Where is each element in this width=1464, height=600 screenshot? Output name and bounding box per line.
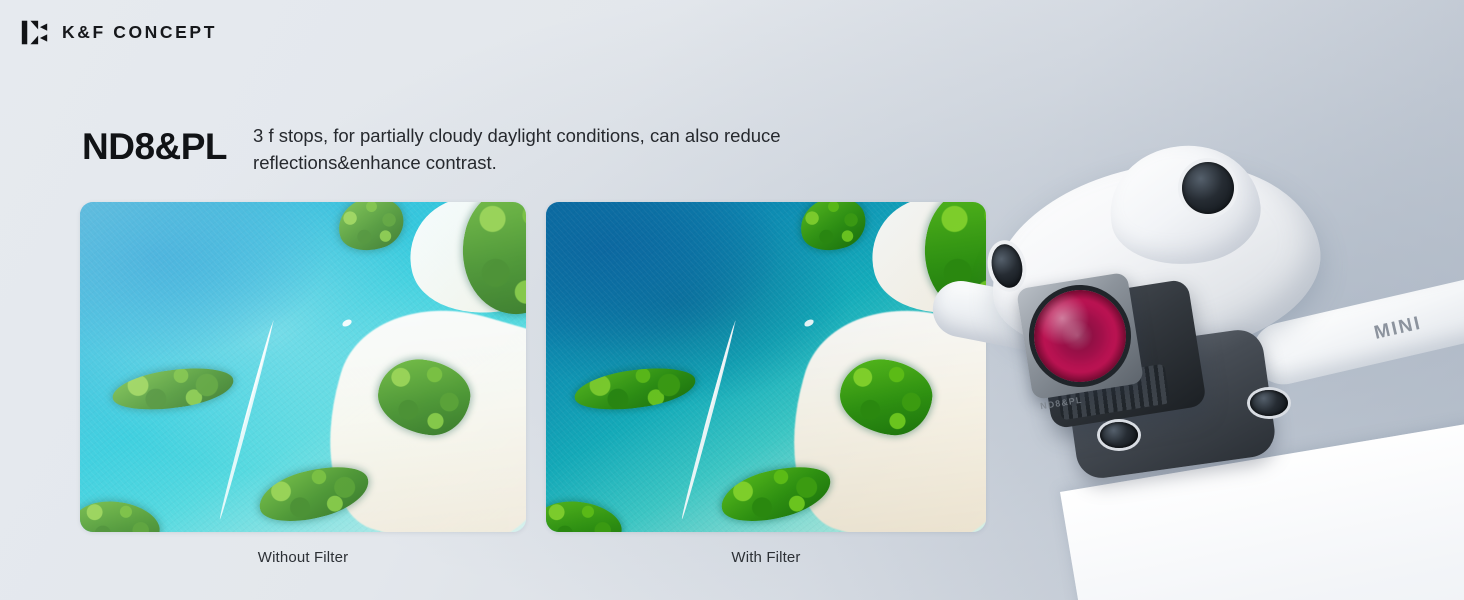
headline-description: 3 f stops, for partially cloudy daylight… [253,122,933,176]
photo-without-filter [80,202,526,532]
contrast-overlay [546,202,986,532]
photo-caption-without-filter: Without Filter [258,549,348,566]
promo-banner: K&F CONCEPT ND8&PL 3 f stops, for partia… [0,0,1464,600]
comparison-gallery: Without Filter [80,202,986,566]
kf-chevron-logo-icon [20,18,49,47]
brand-lockup: K&F CONCEPT [20,18,217,47]
photo-with-filter [546,202,986,532]
photo-caption-with-filter: With Filter [731,549,800,566]
glare-haze-overlay [80,202,526,532]
obstacle-sensor-top-icon [1182,162,1234,214]
page-title: ND8&PL [82,122,227,165]
comparison-item-with-filter: With Filter [546,202,986,566]
headline-block: ND8&PL 3 f stops, for partially cloudy d… [82,122,933,176]
aerial-beach-scene [80,202,526,532]
downward-sensor-1-icon [1100,422,1138,448]
comparison-item-without-filter: Without Filter [80,202,526,566]
downward-sensor-2-icon [1250,390,1288,416]
drone-product-image: MINI ND8&PL [950,140,1464,600]
brand-name: K&F CONCEPT [62,22,217,43]
aerial-beach-scene-filtered [546,202,986,532]
